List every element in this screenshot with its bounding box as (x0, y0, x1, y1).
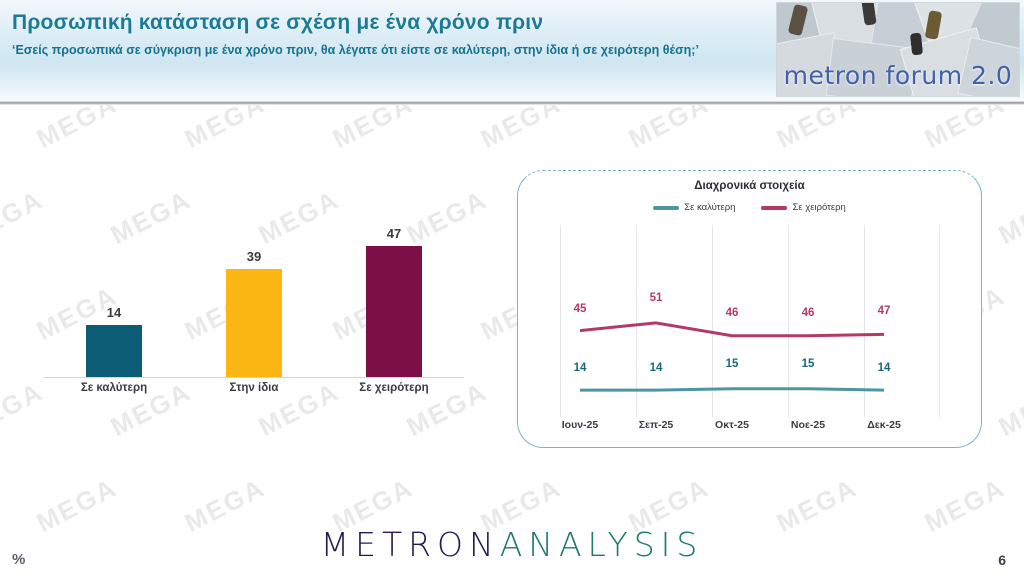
watermark-text: MEGA (698, 568, 789, 578)
page-title: Προσωπική κατάσταση σε σχέση με ένα χρόν… (12, 10, 772, 36)
bar-chart-plot-area: 14 39 47 (44, 210, 464, 378)
series-line-worse (580, 323, 884, 336)
bar-axis-label-worse: Σε χειρότερη (334, 382, 454, 394)
metron-analysis-logo: METRONANALYSIS (0, 525, 1024, 564)
point-label-better-1: 14 (650, 362, 663, 374)
watermark-text: MEGA (0, 376, 48, 443)
slide-canvas: MEGAMEGAMEGAMEGAMEGAMEGAMEGAMEGAMEGAMEGA… (0, 0, 1024, 578)
legend-label-worse: Σε χειρότερη (792, 202, 845, 213)
timeseries-axis-label-0: Ιουν-25 (562, 419, 598, 431)
legend-item-worse[interactable]: Σε χειρότερη (761, 202, 845, 213)
bar-chart-axis: Σε καλύτερη Στην ίδια Σε χειρότερη (44, 382, 464, 394)
bar-axis-label-same: Στην ίδια (194, 382, 314, 394)
timeseries-axis-label-1: Σεπ-25 (639, 419, 674, 431)
bar-column-same: 39 (194, 210, 314, 377)
timeseries-axis-label-2: Οκτ-25 (715, 419, 749, 431)
watermark-text: MEGA (0, 568, 48, 578)
timeseries-axis-label-4: Δεκ-25 (867, 419, 901, 431)
timeseries-svg (560, 225, 940, 417)
point-label-worse-1: 51 (650, 292, 663, 304)
timeseries-axis: Ιουν-25 Σεπ-25 Οκτ-25 Νοε-25 Δεκ-25 (560, 419, 940, 435)
bar-axis-label-better: Σε καλύτερη (54, 382, 174, 394)
watermark-text: MEGA (550, 568, 641, 578)
point-label-worse-3: 46 (802, 307, 815, 319)
point-label-better-4: 14 (878, 362, 891, 374)
bar-column-worse: 47 (334, 210, 454, 377)
bar-value-worse: 47 (387, 226, 401, 241)
metron-forum-logo: metron forum 2.0 (776, 2, 1020, 97)
bar-rect-better[interactable] (86, 325, 142, 377)
logo-text-metron: METRON (321, 525, 500, 564)
title-block: Προσωπική κατάσταση σε σχέση με ένα χρόν… (12, 10, 772, 59)
watermark-text: MEGA (994, 568, 1024, 578)
bar-rect-same[interactable] (226, 269, 282, 377)
bar-rect-worse[interactable] (366, 246, 422, 377)
legend-label-better: Σε καλύτερη (684, 202, 735, 213)
watermark-text: MEGA (994, 184, 1024, 251)
timeseries-legend: Σε καλύτερη Σε χειρότερη (518, 202, 981, 213)
legend-item-better[interactable]: Σε καλύτερη (653, 202, 735, 213)
logo-text-analysis: ANALYSIS (500, 525, 704, 564)
point-label-better-2: 15 (726, 358, 739, 370)
watermark-text: MEGA (846, 568, 937, 578)
header-divider (0, 101, 1024, 105)
timeseries-plot-area: 45 51 46 46 47 14 14 15 15 14 (560, 225, 940, 417)
watermark-text: MEGA (994, 376, 1024, 443)
legend-swatch-worse (761, 206, 787, 210)
timeseries-panel: Διαχρονικά στοιχεία Σε καλύτερη Σε χειρό… (517, 170, 982, 448)
point-label-better-3: 15 (802, 358, 815, 370)
watermark-text: MEGA (106, 568, 197, 578)
bar-column-better: 14 (54, 210, 174, 377)
page-number: 6 (998, 552, 1006, 568)
slide-header: Προσωπική κατάσταση σε σχέση με ένα χρόν… (0, 0, 1024, 101)
point-label-worse-2: 46 (726, 307, 739, 319)
point-label-worse-4: 47 (878, 305, 891, 317)
forum-logo-text: metron forum 2.0 (777, 61, 1019, 90)
point-label-better-0: 14 (574, 362, 587, 374)
point-label-worse-0: 45 (574, 303, 587, 315)
percent-label: % (12, 551, 25, 568)
legend-swatch-better (653, 206, 679, 210)
bar-chart: 14 39 47 Σε καλύτερη Στην ίδια Σε χειρότ… (44, 210, 464, 410)
series-line-better (580, 389, 884, 390)
page-subtitle: ‘Εσείς προσωπικά σε σύγκριση με ένα χρόν… (12, 42, 757, 59)
timeseries-axis-label-3: Νοε-25 (791, 419, 825, 431)
bar-value-same: 39 (247, 249, 261, 264)
watermark-text: MEGA (254, 568, 345, 578)
timeseries-title: Διαχρονικά στοιχεία (518, 180, 981, 192)
bar-value-better: 14 (107, 305, 121, 320)
watermark-text: MEGA (0, 184, 48, 251)
watermark-text: MEGA (402, 568, 493, 578)
